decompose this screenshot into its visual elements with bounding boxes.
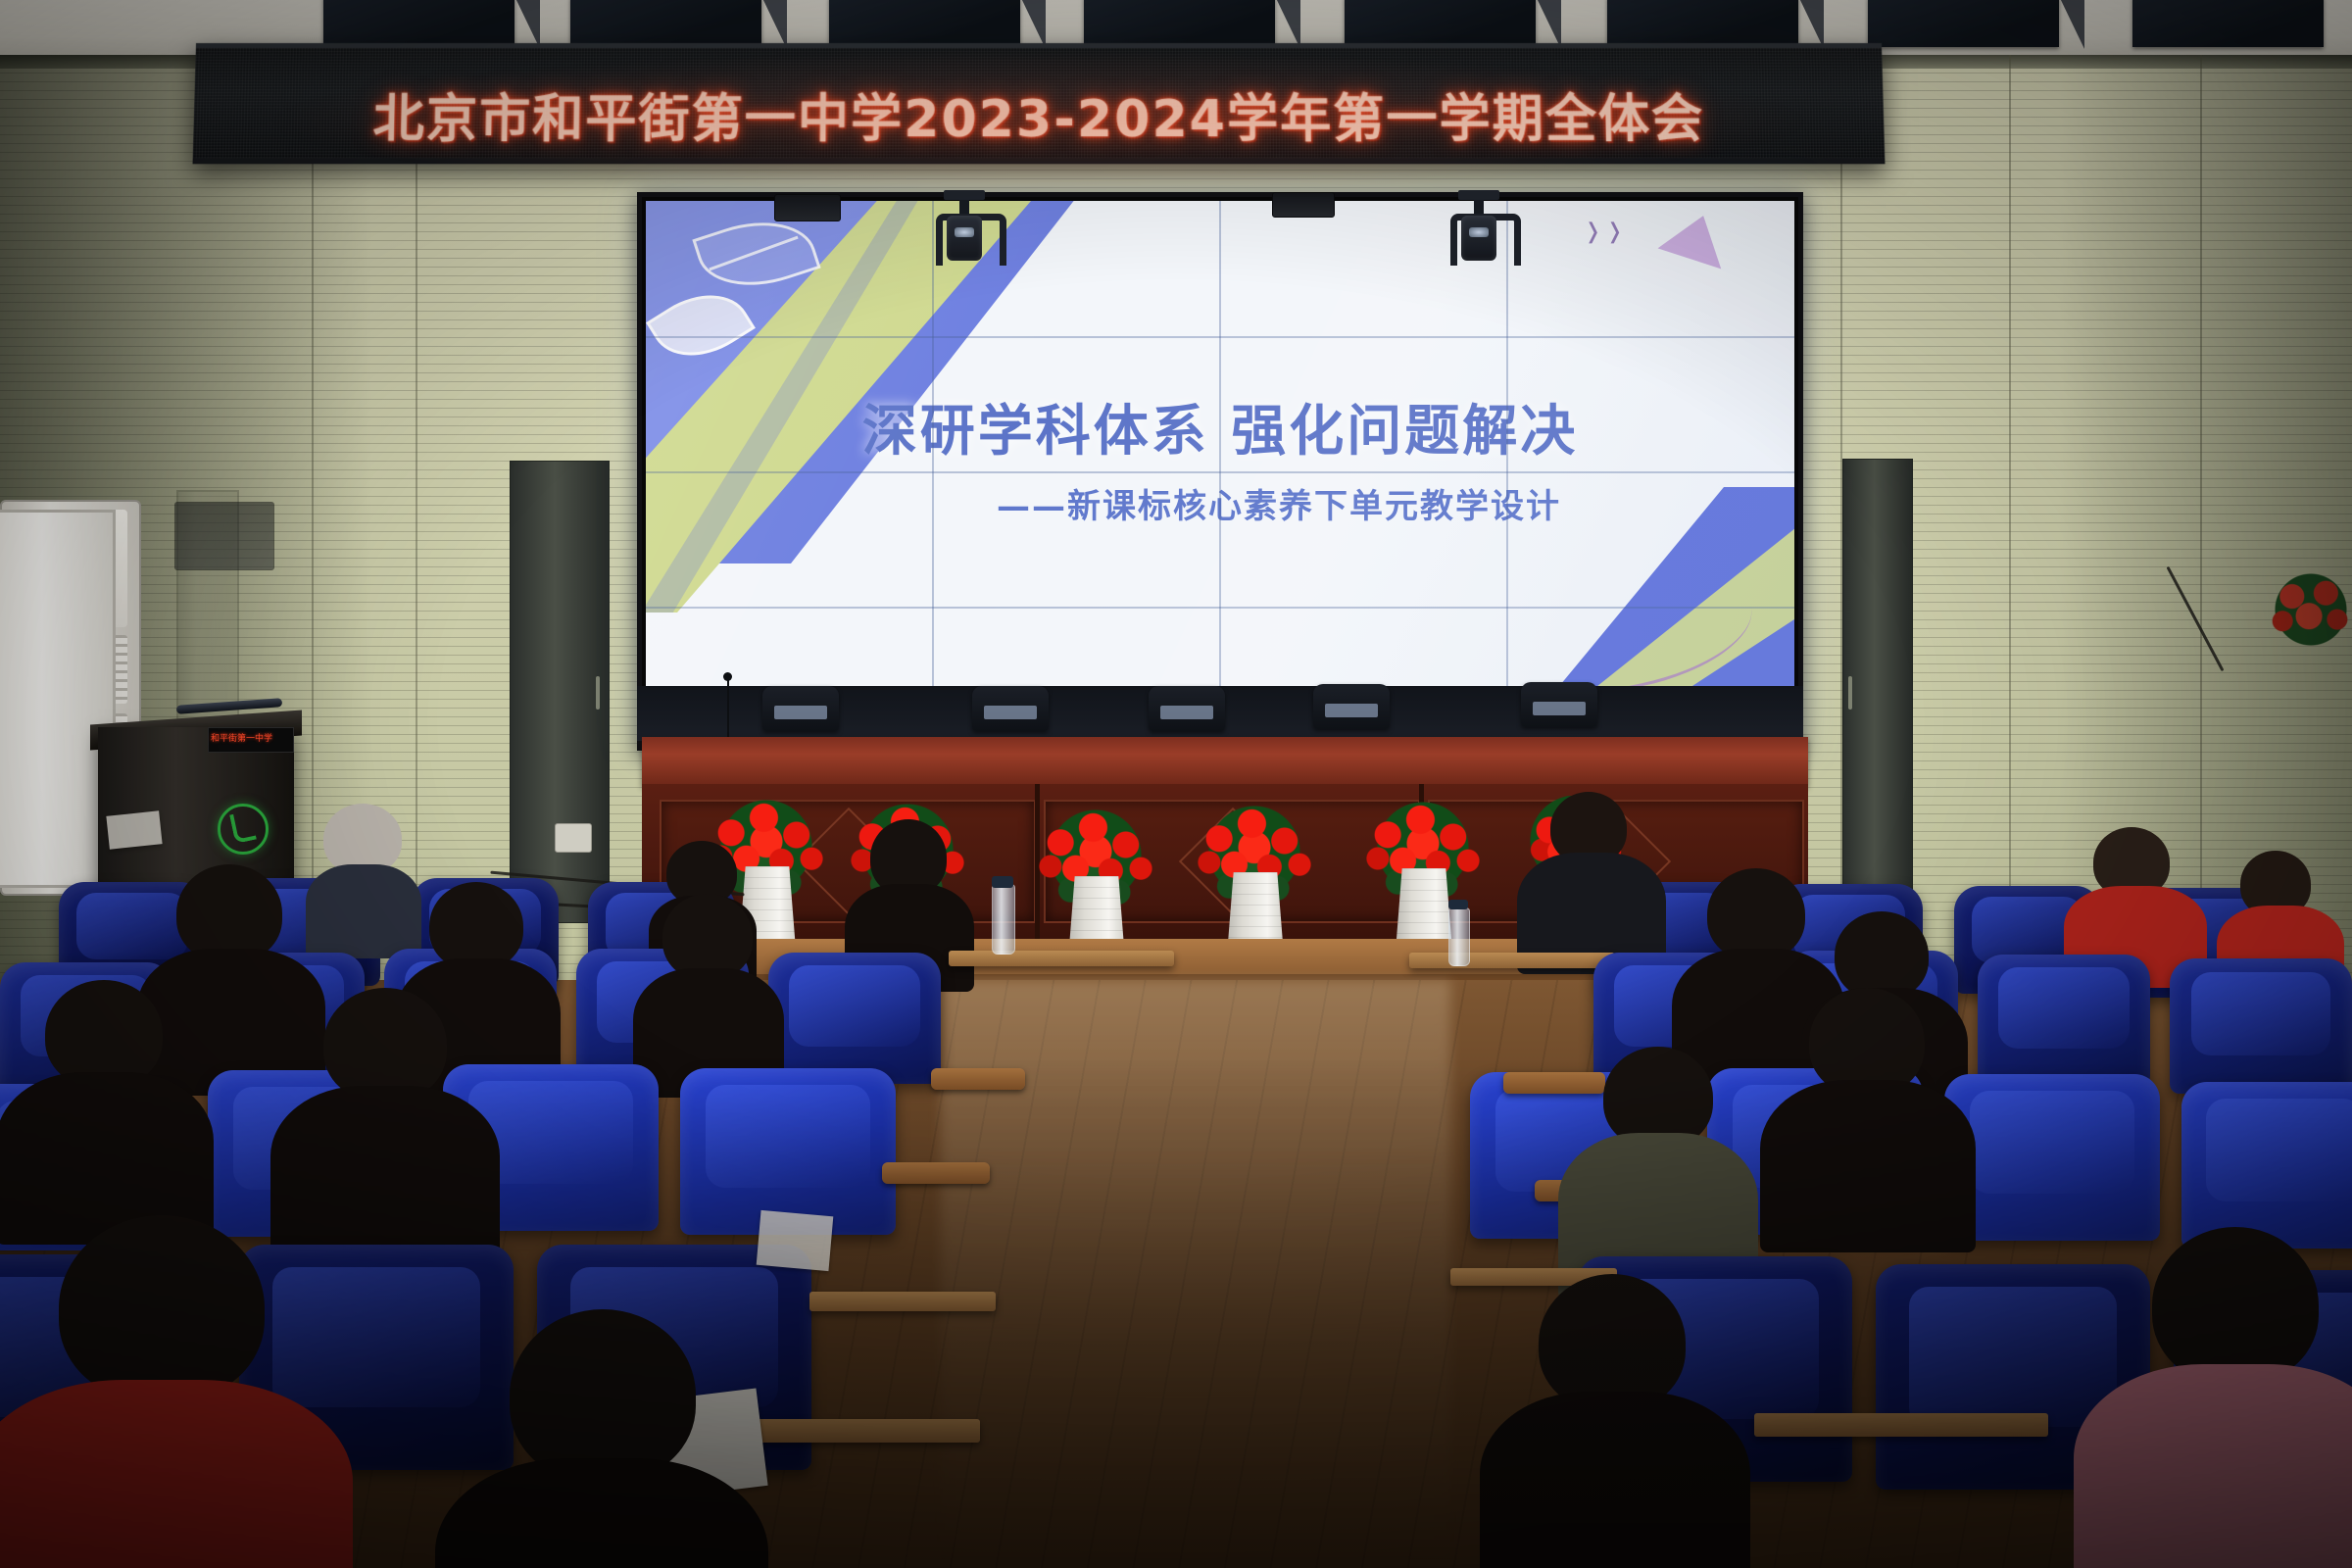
auditorium-photo: 北京市和平街第一中学2023-2024学年第一学期全体会 ❭❭ 深研学科体系 强… [0, 0, 2352, 1568]
speaker-right [1272, 192, 1335, 218]
wall-control-panel[interactable] [174, 502, 274, 570]
slide-kite-icon [1658, 206, 1736, 269]
led-banner: 北京市和平街第一中学2023-2024学年第一学期全体会 [193, 43, 1886, 164]
video-wall[interactable]: ❭❭ 深研学科体系 强化问题解决 ——新课标核心素养下单元教学设计 2023/0… [637, 192, 1803, 751]
seat[interactable] [1978, 955, 2150, 1086]
water-bottle-right[interactable] [1448, 907, 1470, 966]
podium-led-text: 和平街第一中学 [211, 731, 272, 744]
armrest [882, 1162, 990, 1184]
led-banner-text: 北京市和平街第一中学2023-2024学年第一学期全体会 [193, 77, 1885, 151]
podium-led-display: 和平街第一中学 [208, 727, 294, 753]
stage-chair-4[interactable] [1313, 684, 1390, 729]
seat[interactable] [2170, 958, 2352, 1094]
school-leaf-logo-icon [218, 804, 269, 855]
door-left[interactable] [510, 461, 610, 923]
side-desk-left [949, 951, 1174, 966]
door-right[interactable] [1842, 459, 1913, 921]
moving-head-light-left [936, 196, 993, 278]
wall-outlet-panel[interactable] [555, 823, 592, 853]
door-left-handle[interactable] [596, 676, 600, 710]
slide-birds-icon: ❭❭ [1584, 219, 1628, 244]
podium-note-paper[interactable] [106, 810, 162, 849]
speaker-left [774, 194, 841, 221]
head-table [642, 737, 1808, 786]
seat[interactable] [2181, 1082, 2352, 1249]
seat[interactable] [680, 1068, 896, 1235]
handout-paper[interactable] [757, 1210, 834, 1271]
presentation-slide: ❭❭ 深研学科体系 强化问题解决 ——新课标核心素养下单元教学设计 2023/0… [646, 201, 1794, 742]
armrest [1503, 1072, 1605, 1094]
stage-chair-2[interactable] [972, 686, 1049, 731]
stage-chair-3[interactable] [1149, 686, 1225, 731]
armrest [931, 1068, 1025, 1090]
microphone-stand[interactable] [727, 676, 729, 739]
door-right-handle[interactable] [1848, 676, 1852, 710]
water-bottle-left[interactable] [992, 884, 1015, 955]
microphone-head [723, 672, 732, 681]
stage-chair-1[interactable] [762, 686, 839, 731]
moving-head-light-right [1450, 196, 1507, 278]
writing-desk [1754, 1413, 2048, 1437]
wall-flower-right [2264, 568, 2352, 651]
side-desk-right [1409, 953, 1615, 968]
seat[interactable] [1944, 1074, 2160, 1241]
writing-desk [809, 1292, 996, 1311]
seat[interactable] [768, 953, 941, 1084]
stage-chair-5[interactable] [1521, 682, 1597, 727]
